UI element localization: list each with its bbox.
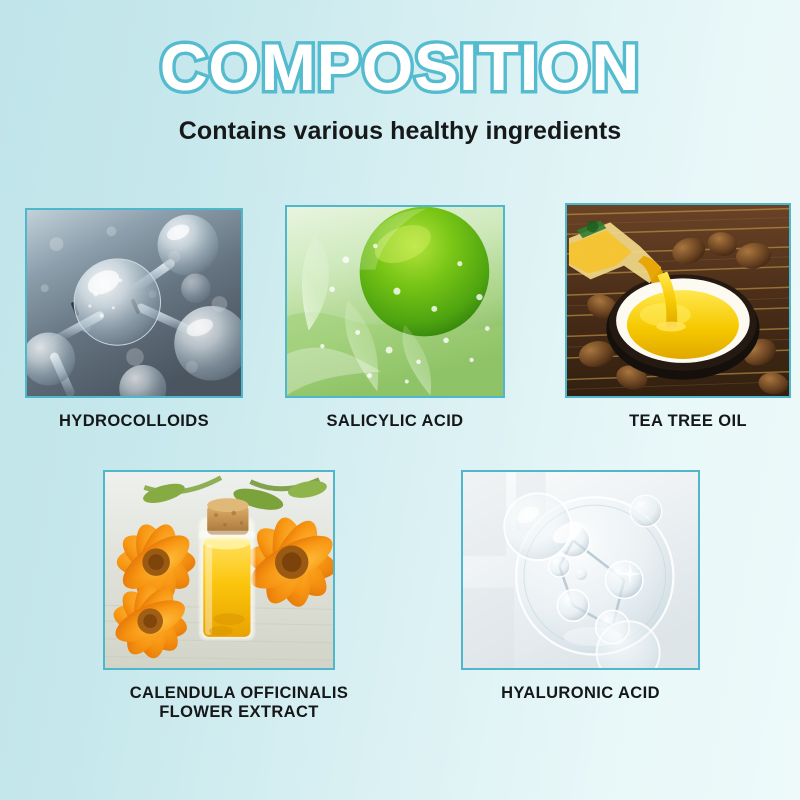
ingredient-label-salicylic-acid: SALICYLIC ACID	[285, 412, 505, 431]
ingredient-card-salicylic-acid[interactable]: SALICYLIC ACID	[285, 205, 505, 431]
ingredient-card-calendula[interactable]: CALENDULA OFFICINALIS FLOWER EXTRACT	[103, 470, 335, 723]
calendula-bottle-illustration-icon	[105, 472, 333, 668]
lime-splash-illustration-icon	[287, 207, 503, 396]
page-title-text: COMPOSITION	[160, 30, 640, 104]
ingredient-label-hyaluronic-acid: HYALURONIC ACID	[461, 684, 700, 703]
ingredient-label-hydrocolloids: HYDROCOLLOIDS	[25, 412, 243, 431]
ingredient-image-tea-tree-oil	[565, 203, 791, 398]
ingredient-card-hydrocolloids[interactable]: HYDROCOLLOIDS	[25, 208, 243, 431]
page-title: COMPOSITION COMPOSITION	[160, 34, 640, 100]
molecule-illustration-icon	[27, 210, 241, 396]
ingredient-image-calendula	[103, 470, 335, 670]
ingredient-label-tea-tree-oil: TEA TREE OIL	[575, 412, 800, 431]
ingredient-card-tea-tree-oil[interactable]: TEA TREE OIL	[565, 203, 791, 431]
bubble-molecule-illustration-icon	[463, 472, 698, 668]
ingredient-label-calendula: CALENDULA OFFICINALIS FLOWER EXTRACT	[123, 684, 355, 723]
ingredient-image-hyaluronic-acid	[461, 470, 700, 670]
oil-pour-bowl-illustration-icon	[567, 205, 789, 396]
ingredient-card-hyaluronic-acid[interactable]: HYALURONIC ACID	[461, 470, 700, 703]
page-subtitle: Contains various healthy ingredients	[0, 117, 800, 146]
composition-poster: COMPOSITION COMPOSITION Contains various…	[0, 0, 800, 800]
ingredient-image-salicylic-acid	[285, 205, 505, 398]
header: COMPOSITION COMPOSITION Contains various…	[0, 34, 800, 146]
ingredient-image-hydrocolloids	[25, 208, 243, 398]
